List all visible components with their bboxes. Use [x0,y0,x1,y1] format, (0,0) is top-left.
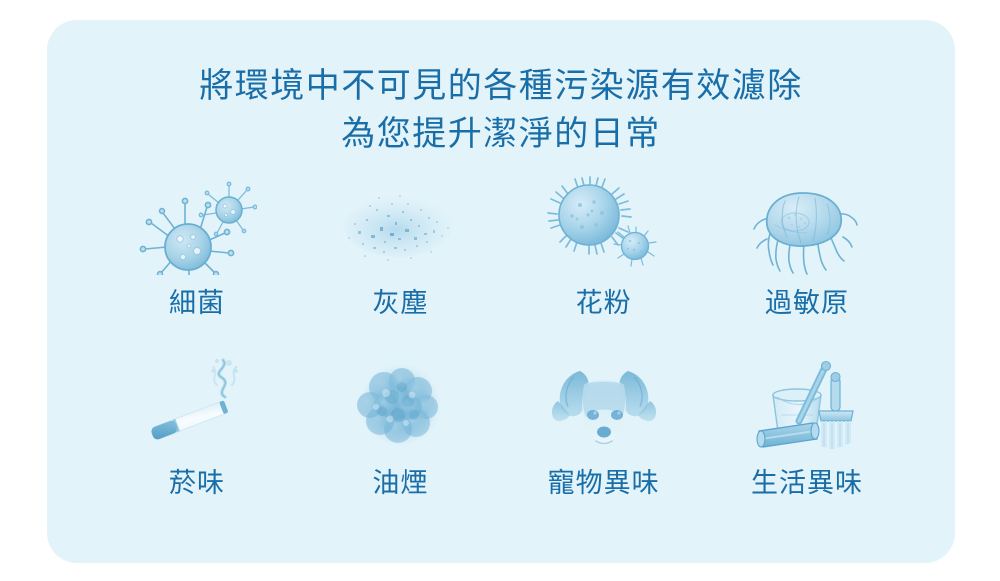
headline-line-1: 將環境中不可見的各種污染源有效濾除 [47,62,955,110]
pollutant-label: 細菌 [169,287,225,319]
dust-icon [340,175,460,275]
pet-dog-icon [544,355,664,455]
cooking-fume-icon [340,355,460,455]
pollutant-label: 花粉 [576,287,632,319]
bacteria-icon [137,175,257,275]
pollutant-label: 菸味 [169,467,225,499]
headline-line-2: 為您提升潔淨的日常 [47,110,955,158]
dust-mite-icon [747,175,867,275]
pollutant-label: 寵物異味 [548,467,660,499]
pollutant-label: 灰塵 [372,287,428,319]
pollutant-item-tobacco[interactable]: 菸味 [107,355,287,499]
pollutant-item-household-odor[interactable]: 生活異味 [717,355,897,499]
pollutant-item-pet-odor[interactable]: 寵物異味 [514,355,694,499]
pollutant-label: 生活異味 [751,467,863,499]
pollutant-item-dust[interactable]: 灰塵 [310,175,490,319]
info-card: 將環境中不可見的各種污染源有效濾除 為您提升潔淨的日常 [47,20,955,563]
cigarette-smoke-icon [137,355,257,455]
pollutant-item-pollen[interactable]: 花粉 [514,175,694,319]
pollutant-row-2: 菸味 [107,355,897,499]
pollutant-row-1: 細菌 [107,175,897,319]
pollen-icon [544,175,664,275]
pollutant-item-bacteria[interactable]: 細菌 [107,175,287,319]
cleaning-tools-icon [747,355,867,455]
pollutant-label: 過敏原 [765,287,849,319]
page-title: 將環境中不可見的各種污染源有效濾除 為您提升潔淨的日常 [47,62,955,158]
pollutant-item-allergen[interactable]: 過敏原 [717,175,897,319]
pollutant-item-cooking-fume[interactable]: 油煙 [310,355,490,499]
screenshot-stage: 將環境中不可見的各種污染源有效濾除 為您提升潔淨的日常 [0,0,1000,581]
pollutant-label: 油煙 [372,467,428,499]
pollutant-grid: 細菌 [107,175,897,499]
